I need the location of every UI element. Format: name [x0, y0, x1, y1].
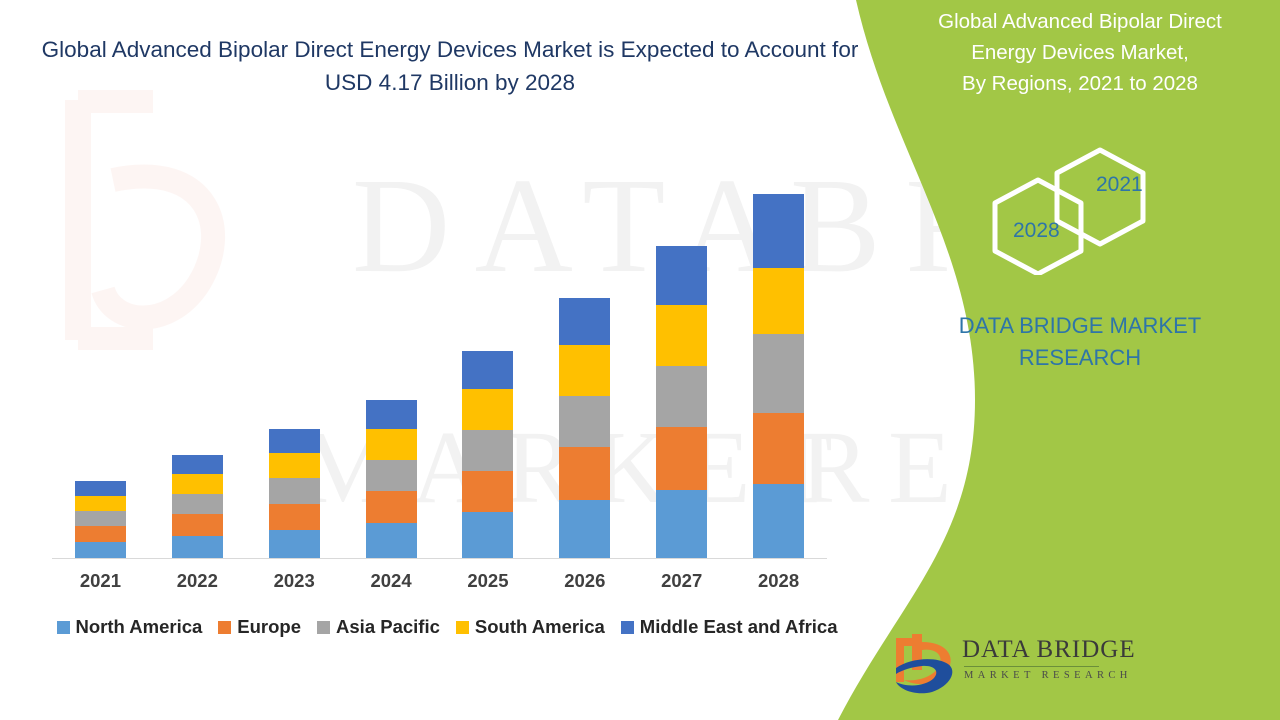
hexagon-label-start-year: 2021: [1096, 173, 1143, 197]
hexagon-label-end-year: 2028: [1013, 219, 1060, 243]
legend-swatch-icon: [621, 621, 634, 634]
panel-content: Global Advanced Bipolar Direct Energy De…: [880, 0, 1280, 720]
bar-segment: [656, 366, 707, 427]
bar-column: [731, 150, 827, 558]
legend-item[interactable]: Europe: [218, 616, 301, 638]
bar-segment: [75, 526, 126, 542]
legend-item[interactable]: North America: [57, 616, 203, 638]
bar-segment: [172, 455, 223, 473]
brand-name-line-2: RESEARCH: [880, 342, 1280, 374]
bar-segment: [366, 400, 417, 429]
legend-label: Europe: [237, 616, 301, 638]
bar-segment: [559, 345, 610, 396]
x-axis-label: 2025: [440, 570, 536, 592]
x-axis-labels: 20212022202320242025202620272028: [52, 570, 827, 592]
bar-segment: [366, 429, 417, 460]
bar-column: [440, 150, 536, 558]
x-axis-label: 2022: [149, 570, 245, 592]
x-axis-label: 2027: [634, 570, 730, 592]
bar-column: [537, 150, 633, 558]
legend-item[interactable]: Middle East and Africa: [621, 616, 838, 638]
bar-stack: [172, 455, 223, 558]
hexagon-group: 2021 2028: [980, 145, 1180, 275]
bar-segment: [656, 305, 707, 365]
bar-segment: [269, 478, 320, 503]
panel-title-line-3: By Regions, 2021 to 2028: [880, 68, 1280, 99]
legend-swatch-icon: [218, 621, 231, 634]
x-axis-label: 2024: [343, 570, 439, 592]
bar-column: [634, 150, 730, 558]
bar-segment: [462, 430, 513, 471]
bar-segment: [753, 334, 804, 414]
bar-segment: [656, 427, 707, 490]
bar-segment: [559, 500, 610, 558]
bar-column: [52, 150, 148, 558]
chart-axis-line: [52, 558, 827, 559]
bar-segment: [559, 447, 610, 499]
legend-swatch-icon: [317, 621, 330, 634]
bar-segment: [172, 494, 223, 514]
bar-segment: [269, 504, 320, 530]
bar-column: [246, 150, 342, 558]
x-axis-label: 2026: [537, 570, 633, 592]
bar-segment: [366, 491, 417, 523]
bar-stack: [656, 246, 707, 558]
legend-label: Middle East and Africa: [640, 616, 838, 638]
bar-segment: [75, 542, 126, 559]
bar-column: [343, 150, 439, 558]
bar-segment: [75, 481, 126, 496]
bar-stack: [269, 429, 320, 558]
bar-segment: [172, 474, 223, 494]
legend-label: South America: [475, 616, 605, 638]
bar-segment: [656, 246, 707, 305]
logo-wordmark: DATA BRIDGE: [962, 636, 1136, 664]
brand-name: DATA BRIDGE MARKET RESEARCH: [880, 310, 1280, 374]
bar-segment: [269, 530, 320, 558]
x-axis-label: 2021: [52, 570, 148, 592]
bar-segment: [172, 536, 223, 558]
bar-segment: [366, 523, 417, 558]
panel-title: Global Advanced Bipolar Direct Energy De…: [880, 6, 1280, 99]
chart-legend: North AmericaEuropeAsia PacificSouth Ame…: [52, 616, 842, 638]
bar-segment: [559, 298, 610, 346]
bar-segment: [462, 389, 513, 430]
stacked-bar-chart: [52, 150, 827, 558]
bar-stack: [753, 194, 804, 558]
x-axis-label: 2028: [731, 570, 827, 592]
panel-title-line-1: Global Advanced Bipolar Direct: [880, 6, 1280, 37]
bar-segment: [462, 512, 513, 558]
legend-label: North America: [76, 616, 203, 638]
bar-column: [149, 150, 245, 558]
data-bridge-mark-icon: [890, 630, 960, 696]
bar-segment: [753, 413, 804, 484]
bar-segment: [75, 511, 126, 526]
legend-swatch-icon: [456, 621, 469, 634]
hexagon-outlines-icon: [980, 145, 1180, 275]
bar-stack: [559, 298, 610, 558]
legend-label: Asia Pacific: [336, 616, 440, 638]
infographic-canvas: DATA BRIDGE MARKET RESEARCH Global Advan…: [0, 0, 1280, 720]
bar-stack: [462, 351, 513, 558]
bar-segment: [462, 351, 513, 389]
legend-item[interactable]: South America: [456, 616, 605, 638]
page-title: Global Advanced Bipolar Direct Energy De…: [40, 33, 860, 99]
bar-segment: [269, 453, 320, 478]
bar-segment: [269, 429, 320, 453]
bar-segment: [75, 496, 126, 512]
legend-item[interactable]: Asia Pacific: [317, 616, 440, 638]
logo-tagline: MARKET RESEARCH: [964, 670, 1132, 681]
bar-segment: [656, 490, 707, 558]
bar-segment: [559, 396, 610, 447]
bar-segment: [753, 268, 804, 334]
bar-segment: [753, 194, 804, 268]
bar-stack: [366, 400, 417, 558]
bar-stack: [75, 481, 126, 558]
bar-segment: [172, 514, 223, 535]
bar-segment: [366, 460, 417, 491]
bar-segment: [462, 471, 513, 513]
panel-title-line-2: Energy Devices Market,: [880, 37, 1280, 68]
logo-divider: [964, 666, 1099, 667]
legend-swatch-icon: [57, 621, 70, 634]
brand-name-line-1: DATA BRIDGE MARKET: [880, 310, 1280, 342]
company-logo: DATA BRIDGE MARKET RESEARCH: [890, 630, 1105, 698]
x-axis-label: 2023: [246, 570, 342, 592]
bar-segment: [753, 484, 804, 558]
